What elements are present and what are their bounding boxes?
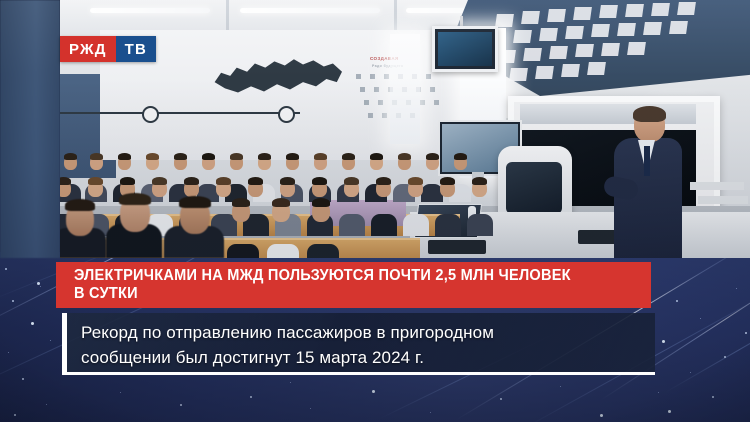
speaker-person: [612, 108, 684, 258]
logo-rzd: РЖД: [60, 36, 116, 62]
video-frame[interactable]: г ей СОЗДАВАЯ Ради будущего: [60, 0, 750, 258]
foreground-faces: [60, 192, 230, 258]
timeline-node: [278, 106, 295, 123]
headline-line-1: ЭЛЕКТРИЧКАМИ НА МЖД ПОЛЬЗУЮТСЯ ПОЧТИ 2,5…: [74, 267, 616, 285]
headline-line-2: В СУТКИ: [74, 285, 616, 303]
broadcast-screen: г ей СОЗДАВАЯ Ради будущего: [0, 0, 750, 422]
wall-timeline: [60, 112, 300, 114]
headline-banner: ЭЛЕКТРИЧКАМИ НА МЖД ПОЛЬЗУЮТСЯ ПОЧТИ 2,5…: [56, 262, 651, 308]
subtitle-line-2: сообщении был достигнут 15 марта 2024 г.: [81, 345, 643, 370]
subtitle-panel: Рекорд по отправлению пассажиров в приго…: [62, 313, 655, 375]
channel-logo[interactable]: РЖД ТВ: [60, 36, 156, 62]
ceiling-monitor: [432, 26, 498, 72]
blurred-video-strip: [0, 0, 60, 258]
subtitle-line-1: Рекорд по отправлению пассажиров в приго…: [81, 320, 643, 345]
logo-tv: ТВ: [116, 36, 156, 62]
timeline-node: [142, 106, 159, 123]
